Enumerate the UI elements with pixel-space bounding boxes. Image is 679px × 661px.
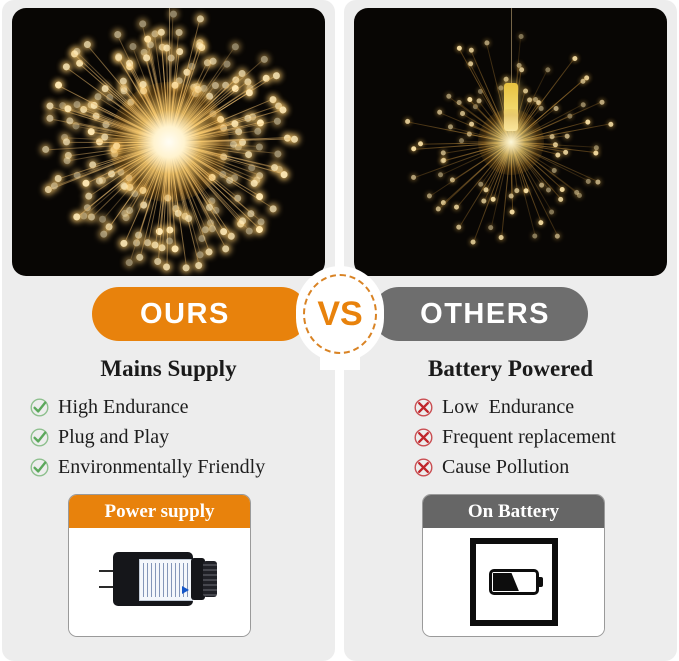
light-bulb [455,99,462,106]
light-bulb [538,182,545,189]
light-bulb [207,56,216,65]
light-bulb [230,140,237,147]
light-bulb [166,237,173,244]
light-bulb [138,20,146,28]
feature-row: Plug and Play [30,424,265,450]
light-bulb [154,257,162,265]
feature-label: Frequent replacement [442,426,616,449]
light-bulb [404,119,410,125]
feature-label: Environmentally Friendly [58,456,265,479]
light-bulb [537,105,544,112]
light-bulb [112,30,121,39]
light-bulb [410,175,416,181]
vs-badge: VS [296,266,384,362]
light-bulb [113,52,123,62]
light-bulb [444,93,451,100]
light-bulb [584,118,590,124]
cross-circle-icon [414,458,433,477]
light-bulb [481,197,488,204]
light-bulb [554,233,561,240]
light-bulb [97,215,107,225]
feature-row: Cause Pollution [414,454,616,480]
light-bulb [128,42,137,51]
battery-symbol-frame [470,538,558,626]
light-bulb [280,170,289,179]
light-bulb [455,224,462,231]
check-circle-icon [30,428,49,447]
light-bulb [607,121,613,127]
plug-label-arrow-icon [182,586,189,594]
light-bulb [221,244,230,253]
feature-label: Low Endurance [442,396,574,419]
cross-circle-icon [414,428,433,447]
light-bulb [510,210,515,215]
light-bulb [514,188,520,194]
plug-body [113,552,193,606]
light-core-others [478,109,544,175]
light-bulb [63,157,71,165]
light-bulb [83,192,93,202]
light-bulb [557,196,564,203]
light-bulb [81,179,90,188]
light-bulb [45,102,54,111]
light-bulb [81,40,91,50]
light-bulb [437,172,444,179]
light-bulb [559,186,566,193]
product-card-others: On Battery [422,494,605,637]
check-circle-icon [30,398,49,417]
power-adapter-plug-icon [99,552,217,606]
banner-label-ours: OURS [140,298,230,331]
light-bulb [544,66,551,73]
plug-knurled-end [203,561,217,597]
light-bulb [136,253,144,261]
light-bulb [86,213,96,223]
light-bulb [545,186,552,193]
light-bulb [195,14,203,22]
light-bulb [229,42,239,52]
light-bulb [518,67,524,73]
plug-label [139,559,193,601]
feature-list-ours: High EndurancePlug and PlayEnvironmental… [30,394,265,484]
light-bulb [521,88,527,94]
light-bulb [434,206,441,213]
light-bulb [253,127,261,135]
light-bulb [417,142,422,147]
light-bulb [174,29,182,37]
photo-ours [12,8,325,276]
light-bulb [470,239,476,245]
heading-others: Battery Powered [344,356,677,382]
feature-label: High Endurance [58,396,189,419]
light-bulb [256,143,263,150]
light-bulb [171,246,178,253]
feature-row: Frequent replacement [414,424,616,450]
light-bulb [598,99,605,106]
product-card-body-ours [69,528,250,636]
light-bulb [274,150,282,158]
product-card-ours: Power supply [68,494,251,637]
low-battery-icon [489,569,539,595]
feature-row: High Endurance [30,394,265,420]
vs-badge-label: VS [317,295,362,334]
light-bulb [42,146,49,153]
light-bulb [439,158,445,164]
light-bulb [411,147,416,152]
light-bulb [532,233,538,239]
light-bulb [163,263,170,270]
light-bulb [119,239,128,248]
light-bulb [562,149,568,155]
light-bulb [488,225,494,231]
light-bulb [194,261,202,269]
comparison-infographic: OURS OTHERS VS Mains Supply Battery Powe… [0,0,679,661]
banner-label-others: OTHERS [420,298,550,331]
light-core-ours [109,82,229,202]
light-bulb [99,230,109,240]
light-bulb [466,97,473,104]
light-bulb [151,241,159,249]
light-bulb [564,133,570,139]
light-bulb [594,178,601,185]
light-bulb [517,34,522,39]
light-bulb [72,212,82,222]
light-bulb [61,62,71,72]
light-bulb [440,151,446,157]
light-bulb [570,55,577,62]
light-bulb [45,115,53,123]
product-card-body-others [423,528,604,636]
light-bulb [258,54,268,64]
product-card-title-others: On Battery [423,495,604,528]
light-bulb [254,224,264,234]
light-bulb [426,193,433,200]
product-card-title-ours: Power supply [69,495,250,528]
feature-label: Plug and Play [58,426,169,449]
light-bulb [278,105,287,114]
light-bulb [580,101,587,108]
light-bulb [538,219,544,225]
check-circle-icon [30,458,49,477]
light-bulb [141,54,150,63]
light-bulb [204,247,213,256]
light-bulb [549,133,555,139]
light-bulb [255,191,265,201]
banner-ours: OURS [92,287,308,341]
cross-circle-icon [414,398,433,417]
feature-label: Cause Pollution [442,456,569,479]
light-bulb [271,71,281,81]
light-bulb [497,85,503,91]
light-bulb [498,234,503,239]
feature-row: Environmentally Friendly [30,454,265,480]
light-bulb [100,134,108,142]
light-bulb [436,109,443,116]
light-bulb [458,110,465,117]
light-bulb [290,135,297,142]
light-bulb [455,45,462,52]
light-bulb [157,28,164,35]
light-bulb [593,150,599,156]
heading-ours: Mains Supply [2,356,335,382]
light-bulb [72,100,81,109]
light-bulb [273,117,281,125]
light-bulb [244,150,252,158]
light-bulb [459,139,464,144]
feature-row: Low Endurance [414,394,616,420]
light-bulb [244,226,254,236]
light-bulb [555,152,561,158]
photo-others [354,8,667,276]
light-bulb [125,258,134,267]
light-bulb [453,204,460,211]
banner-others: OTHERS [372,287,588,341]
light-bulb [169,11,176,18]
feature-list-others: Low EnduranceFrequent replacementCause P… [414,394,616,484]
light-bulb [158,244,165,251]
light-bulb [551,105,558,112]
light-bulb [182,263,190,271]
light-bulb [509,193,514,198]
light-bulb [467,47,474,54]
light-bulb [53,81,62,90]
light-bulb [593,145,598,150]
light-bulb [268,204,278,214]
light-bulb [249,178,258,187]
battery-charge-level [493,573,519,591]
light-bulb [483,40,489,46]
light-bulb [63,139,70,146]
light-bulb [585,178,592,185]
light-bulb [578,78,585,85]
light-bulb [548,209,555,216]
light-bulb [502,77,507,82]
